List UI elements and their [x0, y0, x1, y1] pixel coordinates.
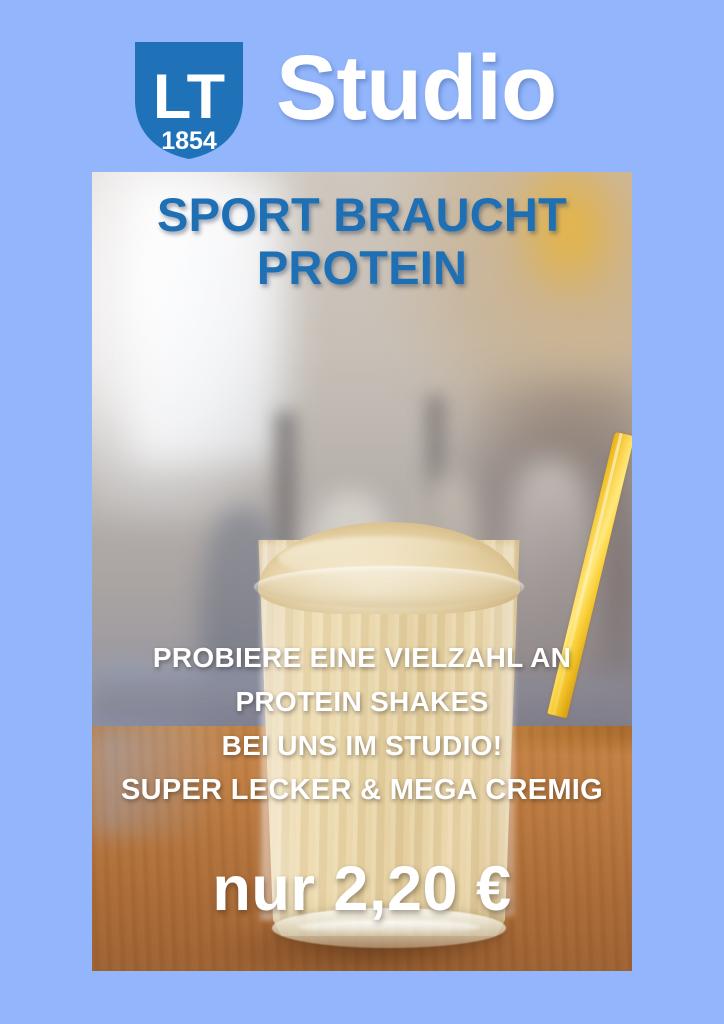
headline: SPORT BRAUCHT PROTEIN: [92, 188, 632, 294]
body-copy: PROBIERE EINE VIELZAHL AN PROTEIN SHAKES…: [92, 636, 632, 812]
headline-line-2: PROTEIN: [92, 241, 632, 294]
shield-logo-icon: LT 1854: [131, 38, 247, 161]
svg-text:1854: 1854: [161, 127, 217, 155]
headline-line-1: SPORT BRAUCHT: [92, 188, 632, 241]
glass-rim: [254, 566, 524, 608]
body-line-2: PROTEIN SHAKES: [92, 680, 632, 724]
price-text: nur 2,20 €: [92, 852, 632, 926]
poster-root: LT 1854 Studio: [0, 0, 724, 1024]
body-line-1: PROBIERE EINE VIELZAHL AN: [92, 636, 632, 680]
svg-text:LT: LT: [153, 62, 225, 132]
poster-header: LT 1854 Studio: [0, 0, 724, 172]
protein-shake-photo: SPORT BRAUCHT PROTEIN PROBIERE EINE VIEL…: [92, 172, 632, 971]
body-line-3: BEI UNS IM STUDIO!: [92, 724, 632, 768]
brand-title: Studio: [276, 36, 556, 140]
body-line-4: SUPER LECKER & MEGA CREMIG: [92, 768, 632, 812]
